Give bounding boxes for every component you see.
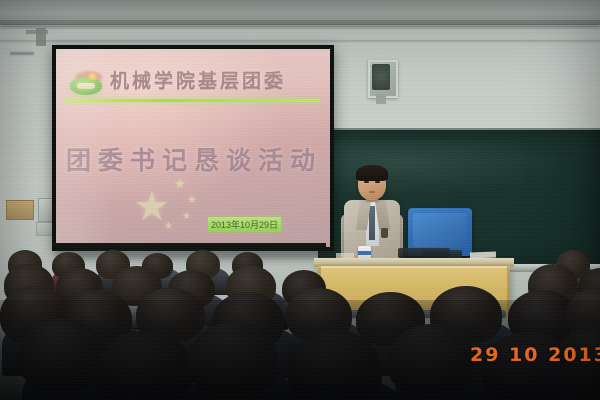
camera-timestamp: 29 10 2013 [470,344,600,366]
lecture-hall-photo: 机械学院基层团委 团委书记恳谈活动 ★ ★ ★ ★ ★ 2013年10月29日 [0,0,600,400]
